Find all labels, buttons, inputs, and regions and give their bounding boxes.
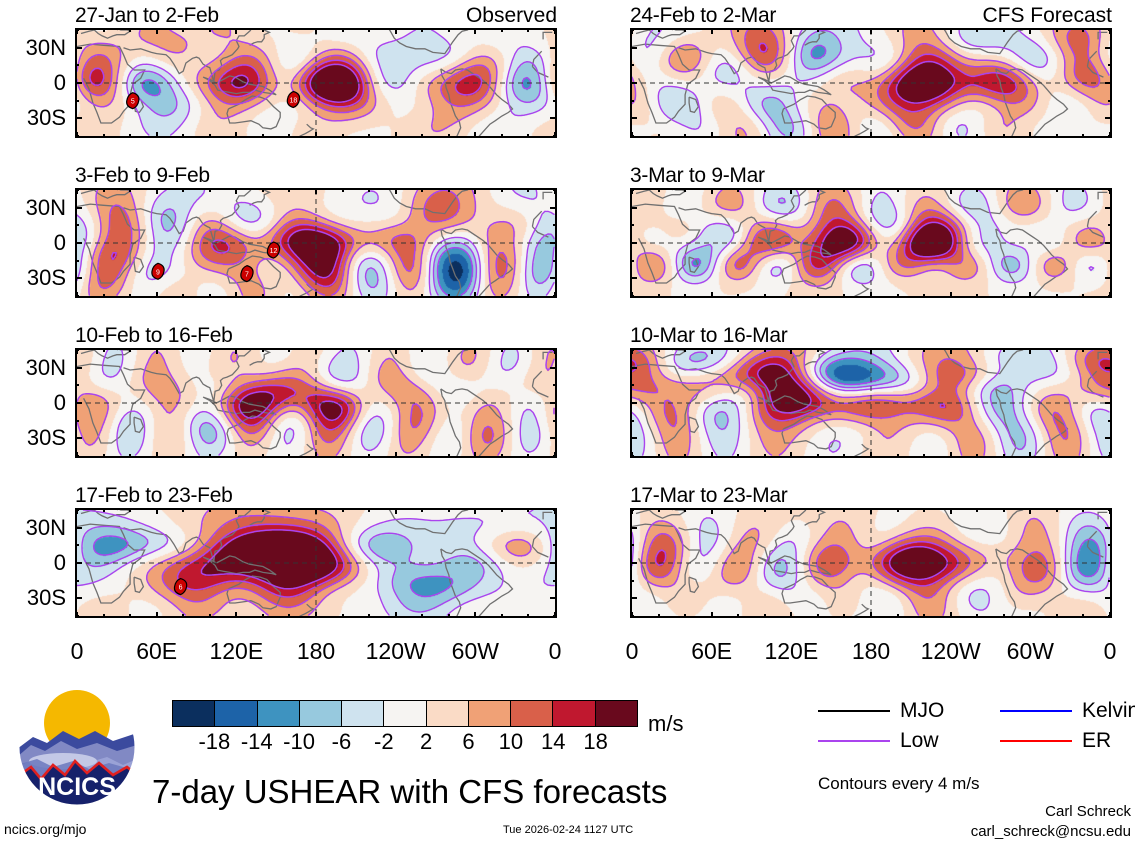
x-tick (711, 348, 713, 354)
x-axis-label: 60E (667, 640, 757, 663)
y-tick-minor (553, 384, 557, 386)
x-tick-minor (1003, 508, 1005, 512)
y-tick-minor (75, 189, 79, 191)
map-plot: 1297 (75, 188, 557, 298)
x-axis-label: 120E (746, 640, 836, 663)
y-tick (550, 402, 557, 404)
x-tick-minor (421, 188, 423, 192)
y-tick-minor (630, 437, 634, 439)
x-tick-minor (262, 454, 264, 458)
x-tick-minor (501, 188, 503, 192)
x-tick-minor (209, 614, 211, 618)
x-tick (950, 292, 952, 298)
y-tick-minor (630, 509, 634, 511)
x-tick-minor (342, 28, 344, 32)
x-tick (711, 292, 713, 298)
x-tick (235, 292, 237, 298)
legend-line-mjo (818, 710, 890, 712)
x-tick (1029, 132, 1031, 138)
y-tick-minor (553, 295, 557, 297)
x-tick-minor (288, 454, 290, 458)
x-tick-minor (1003, 188, 1005, 192)
x-tick-minor (182, 614, 184, 618)
y-tick-minor (1108, 349, 1112, 351)
timestamp: Tue 2026-02-24 1127 UTC (503, 825, 633, 836)
x-tick-minor (527, 188, 529, 192)
x-tick-minor (342, 454, 344, 458)
x-tick (950, 612, 952, 618)
cyclone-marker[interactable]: 7 (241, 266, 253, 282)
x-tick (711, 188, 713, 194)
x-tick (474, 452, 476, 458)
y-tick-minor (75, 420, 79, 422)
y-tick-minor (1108, 544, 1112, 546)
x-tick-minor (658, 188, 660, 192)
x-tick (870, 348, 872, 354)
x-tick (235, 612, 237, 618)
x-tick-minor (897, 188, 899, 192)
x-tick-minor (1056, 188, 1058, 192)
y-tick (630, 562, 637, 564)
y-tick-minor (630, 47, 634, 49)
x-tick-minor (421, 28, 423, 32)
y-tick-minor (630, 384, 634, 386)
x-tick-minor (976, 28, 978, 32)
x-tick (156, 508, 158, 514)
x-tick-minor (1082, 348, 1084, 352)
y-tick-minor (630, 580, 634, 582)
x-tick (711, 28, 713, 34)
y-tick-minor (553, 597, 557, 599)
x-tick-minor (209, 188, 211, 192)
colorbar-swatch-7 (469, 701, 511, 726)
y-tick-minor (75, 367, 79, 369)
cyclone-marker[interactable]: 9 (152, 263, 164, 279)
y-tick-minor (1108, 100, 1112, 102)
y-tick-minor (553, 117, 557, 119)
x-tick-minor (1082, 454, 1084, 458)
x-tick (711, 612, 713, 618)
x-tick-minor (209, 508, 211, 512)
y-tick (75, 562, 82, 564)
y-tick-minor (1108, 29, 1112, 31)
x-tick-minor (897, 348, 899, 352)
y-axis-label: 30N (0, 37, 66, 59)
y-tick-minor (553, 527, 557, 529)
y-tick-minor (553, 509, 557, 511)
y-tick-minor (630, 207, 634, 209)
x-tick-minor (342, 188, 344, 192)
x-tick (711, 508, 713, 514)
x-tick-minor (421, 134, 423, 138)
x-tick-minor (817, 134, 819, 138)
colorbar-swatch-3 (300, 701, 342, 726)
y-tick (1105, 562, 1112, 564)
x-tick-minor (684, 508, 686, 512)
x-tick-minor (182, 294, 184, 298)
x-tick-minor (103, 614, 105, 618)
x-tick (235, 508, 237, 514)
x-tick (870, 188, 872, 194)
map-plot: 518 (75, 28, 557, 138)
x-tick-minor (897, 294, 899, 298)
x-tick (395, 348, 397, 354)
y-tick-minor (553, 455, 557, 457)
x-axis-label: 60E (112, 640, 202, 663)
y-tick-minor (75, 384, 79, 386)
y-tick (75, 402, 82, 404)
map-overlay (77, 350, 555, 456)
x-tick-minor (209, 348, 211, 352)
x-tick-minor (843, 188, 845, 192)
x-tick-minor (527, 134, 529, 138)
y-tick-minor (553, 135, 557, 137)
x-tick (950, 28, 952, 34)
colorbar-swatch-0 (173, 701, 215, 726)
x-tick-minor (368, 294, 370, 298)
y-tick-minor (553, 189, 557, 191)
x-tick (474, 508, 476, 514)
x-tick-minor (737, 28, 739, 32)
x-tick-minor (684, 188, 686, 192)
x-tick-minor (103, 508, 105, 512)
x-tick-minor (764, 28, 766, 32)
x-tick-minor (658, 294, 660, 298)
x-tick-minor (976, 614, 978, 618)
y-tick-minor (553, 47, 557, 49)
x-tick-minor (262, 294, 264, 298)
y-tick-minor (75, 135, 79, 137)
x-tick-minor (923, 508, 925, 512)
x-tick-minor (1003, 454, 1005, 458)
y-tick-minor (75, 580, 79, 582)
x-tick-minor (342, 348, 344, 352)
y-tick-minor (1108, 615, 1112, 617)
colorbar-unit-label: m/s (648, 713, 683, 735)
y-tick-minor (553, 615, 557, 617)
x-tick (156, 188, 158, 194)
x-tick-minor (684, 348, 686, 352)
legend-line-er (1000, 740, 1072, 742)
x-tick (395, 612, 397, 618)
map-plot (75, 348, 557, 458)
map-plot (630, 188, 1112, 298)
y-tick-minor (1108, 367, 1112, 369)
x-tick-minor (817, 454, 819, 458)
x-tick-minor (1082, 134, 1084, 138)
x-tick-minor (527, 508, 529, 512)
x-tick-minor (527, 348, 529, 352)
x-tick-minor (817, 28, 819, 32)
y-tick (75, 242, 82, 244)
y-tick-minor (630, 455, 634, 457)
x-tick-minor (368, 188, 370, 192)
y-tick-minor (630, 64, 634, 66)
x-tick-minor (658, 348, 660, 352)
x-tick-minor (737, 454, 739, 458)
x-axis-label: 180 (271, 640, 361, 663)
x-tick-minor (368, 508, 370, 512)
x-tick (950, 508, 952, 514)
x-tick-minor (923, 348, 925, 352)
column-label-forecast: CFS Forecast (630, 5, 1112, 26)
x-tick (950, 188, 952, 194)
x-tick-minor (737, 508, 739, 512)
y-tick-minor (1108, 135, 1112, 137)
site-url[interactable]: ncics.org/mjo (4, 822, 86, 836)
y-tick-minor (630, 349, 634, 351)
x-tick (156, 348, 158, 354)
x-tick-minor (501, 614, 503, 618)
x-tick-minor (843, 294, 845, 298)
x-tick (870, 612, 872, 618)
x-tick-minor (262, 348, 264, 352)
y-tick (1105, 242, 1112, 244)
x-tick-minor (1082, 508, 1084, 512)
y-tick-minor (1108, 509, 1112, 511)
x-tick-minor (897, 134, 899, 138)
x-tick (315, 348, 317, 354)
x-tick-minor (817, 508, 819, 512)
cyclone-marker[interactable]: 18 (287, 91, 299, 107)
x-tick (790, 508, 792, 514)
x-tick-minor (103, 294, 105, 298)
y-tick-minor (75, 295, 79, 297)
x-tick (235, 28, 237, 34)
x-tick-minor (368, 134, 370, 138)
x-tick-minor (897, 28, 899, 32)
x-tick-minor (737, 134, 739, 138)
x-tick-minor (368, 614, 370, 618)
x-tick (395, 188, 397, 194)
x-tick (790, 188, 792, 194)
x-tick-minor (976, 134, 978, 138)
x-tick-minor (1003, 614, 1005, 618)
y-tick-minor (75, 349, 79, 351)
y-tick-minor (75, 207, 79, 209)
x-tick (235, 132, 237, 138)
x-tick (235, 188, 237, 194)
x-tick-minor (501, 348, 503, 352)
x-tick-minor (103, 348, 105, 352)
x-tick-minor (342, 508, 344, 512)
x-tick-minor (448, 28, 450, 32)
x-tick-minor (129, 454, 131, 458)
x-tick-minor (129, 508, 131, 512)
ncics-logo[interactable]: NCICS (17, 687, 137, 807)
x-tick-minor (1082, 188, 1084, 192)
cyclone-marker[interactable]: 5 (127, 93, 139, 109)
y-tick-minor (1108, 47, 1112, 49)
x-tick-minor (817, 348, 819, 352)
x-tick-minor (1056, 614, 1058, 618)
x-tick (395, 292, 397, 298)
x-tick-minor (209, 294, 211, 298)
legend-line-kelvin-x2 (1000, 710, 1072, 712)
x-axis-label: 60W (430, 640, 520, 663)
x-tick (790, 348, 792, 354)
y-tick-minor (75, 544, 79, 546)
x-tick (474, 292, 476, 298)
x-tick-minor (501, 28, 503, 32)
x-tick-minor (923, 134, 925, 138)
y-tick-minor (553, 420, 557, 422)
y-tick-minor (1108, 597, 1112, 599)
x-axis-label: 120W (351, 640, 441, 663)
y-tick-minor (1108, 260, 1112, 262)
x-tick-minor (103, 454, 105, 458)
map-overlay: 6 (77, 510, 555, 616)
x-tick (395, 28, 397, 34)
cyclone-marker[interactable]: 12 (267, 242, 279, 258)
x-tick (1029, 612, 1031, 618)
panel-title: 17-Feb to 23-Feb (75, 485, 232, 506)
x-axis-label: 120W (906, 640, 996, 663)
x-tick (474, 612, 476, 618)
map-overlay (632, 190, 1110, 296)
x-tick-minor (923, 294, 925, 298)
legend-line-low (818, 740, 890, 742)
x-tick-minor (209, 454, 211, 458)
y-tick-minor (75, 100, 79, 102)
y-tick (550, 562, 557, 564)
x-tick-minor (182, 348, 184, 352)
colorbar-swatch-2 (258, 701, 300, 726)
x-tick-minor (764, 294, 766, 298)
x-tick-minor (182, 134, 184, 138)
low-frequency-contours (632, 512, 1109, 615)
y-tick-minor (75, 527, 79, 529)
x-tick (790, 612, 792, 618)
map-overlay (632, 30, 1110, 136)
author-email[interactable]: carl_schreck@ncsu.edu (971, 824, 1131, 839)
x-tick-minor (288, 348, 290, 352)
y-tick-minor (75, 437, 79, 439)
x-tick (711, 452, 713, 458)
y-axis-label: 0 (0, 392, 66, 414)
y-axis-label: 0 (0, 552, 66, 574)
x-tick-minor (684, 294, 686, 298)
x-tick-minor (1082, 614, 1084, 618)
colorbar-swatch-6 (427, 701, 469, 726)
colorbar-swatch-8 (511, 701, 553, 726)
y-tick-minor (553, 580, 557, 582)
y-tick-minor (1108, 527, 1112, 529)
ncics-logo-text: NCICS (38, 773, 116, 801)
x-tick-minor (501, 294, 503, 298)
y-tick (550, 82, 557, 84)
x-tick (395, 452, 397, 458)
x-tick (315, 452, 317, 458)
x-tick-minor (288, 188, 290, 192)
x-tick (235, 452, 237, 458)
x-tick-minor (976, 188, 978, 192)
x-tick-minor (1003, 294, 1005, 298)
map-overlay: 518 (77, 30, 555, 136)
x-tick-minor (658, 508, 660, 512)
x-tick (870, 132, 872, 138)
x-tick-minor (684, 134, 686, 138)
x-tick-minor (843, 348, 845, 352)
x-tick (156, 28, 158, 34)
y-tick (630, 402, 637, 404)
x-tick (315, 188, 317, 194)
x-tick-minor (923, 454, 925, 458)
x-tick-minor (421, 454, 423, 458)
x-tick-minor (368, 28, 370, 32)
cyclone-marker[interactable]: 6 (174, 579, 186, 595)
x-axis-label: 60W (985, 640, 1075, 663)
x-tick-minor (448, 348, 450, 352)
x-tick-minor (448, 188, 450, 192)
x-tick-minor (501, 454, 503, 458)
column-label-observed: Observed (75, 5, 557, 26)
y-tick-minor (553, 207, 557, 209)
x-tick (790, 28, 792, 34)
x-axis-label: 0 (1065, 640, 1135, 663)
x-tick-minor (1056, 348, 1058, 352)
x-tick-minor (262, 28, 264, 32)
x-tick-minor (843, 454, 845, 458)
x-tick (870, 28, 872, 34)
x-tick-minor (658, 454, 660, 458)
x-tick-minor (684, 28, 686, 32)
x-tick-minor (764, 188, 766, 192)
x-tick-minor (421, 348, 423, 352)
page-title: 7-day USHEAR with CFS forecasts (152, 775, 667, 808)
x-tick-minor (262, 614, 264, 618)
x-tick-minor (737, 614, 739, 618)
x-tick-minor (501, 134, 503, 138)
x-tick-minor (843, 134, 845, 138)
x-tick-minor (288, 134, 290, 138)
y-tick-minor (553, 260, 557, 262)
colorbar-tick: 18 (571, 731, 621, 753)
x-tick (474, 132, 476, 138)
legend-label-er: ER (1082, 730, 1111, 751)
x-tick-minor (764, 614, 766, 618)
x-tick (315, 292, 317, 298)
x-tick-minor (1082, 294, 1084, 298)
x-tick (395, 132, 397, 138)
y-tick-minor (75, 117, 79, 119)
x-tick-minor (764, 508, 766, 512)
y-axis-label: 30S (0, 587, 66, 609)
x-tick-minor (103, 28, 105, 32)
x-tick (1029, 348, 1031, 354)
x-tick-minor (368, 348, 370, 352)
x-tick (870, 452, 872, 458)
x-tick-minor (288, 28, 290, 32)
map-overlay (632, 510, 1110, 616)
x-tick-minor (182, 508, 184, 512)
x-tick-minor (764, 454, 766, 458)
x-tick (1029, 188, 1031, 194)
author-name: Carl Schreck (1045, 804, 1131, 819)
y-tick-minor (1108, 189, 1112, 191)
x-tick-minor (209, 134, 211, 138)
x-tick-minor (129, 294, 131, 298)
x-tick-minor (976, 454, 978, 458)
x-tick-minor (764, 134, 766, 138)
y-tick-minor (1108, 224, 1112, 226)
x-tick-minor (843, 614, 845, 618)
x-tick-minor (368, 454, 370, 458)
colorbar-swatch-1 (215, 701, 257, 726)
x-tick-minor (684, 454, 686, 458)
x-tick-minor (1056, 28, 1058, 32)
panel-title: 3-Mar to 9-Mar (630, 165, 765, 186)
